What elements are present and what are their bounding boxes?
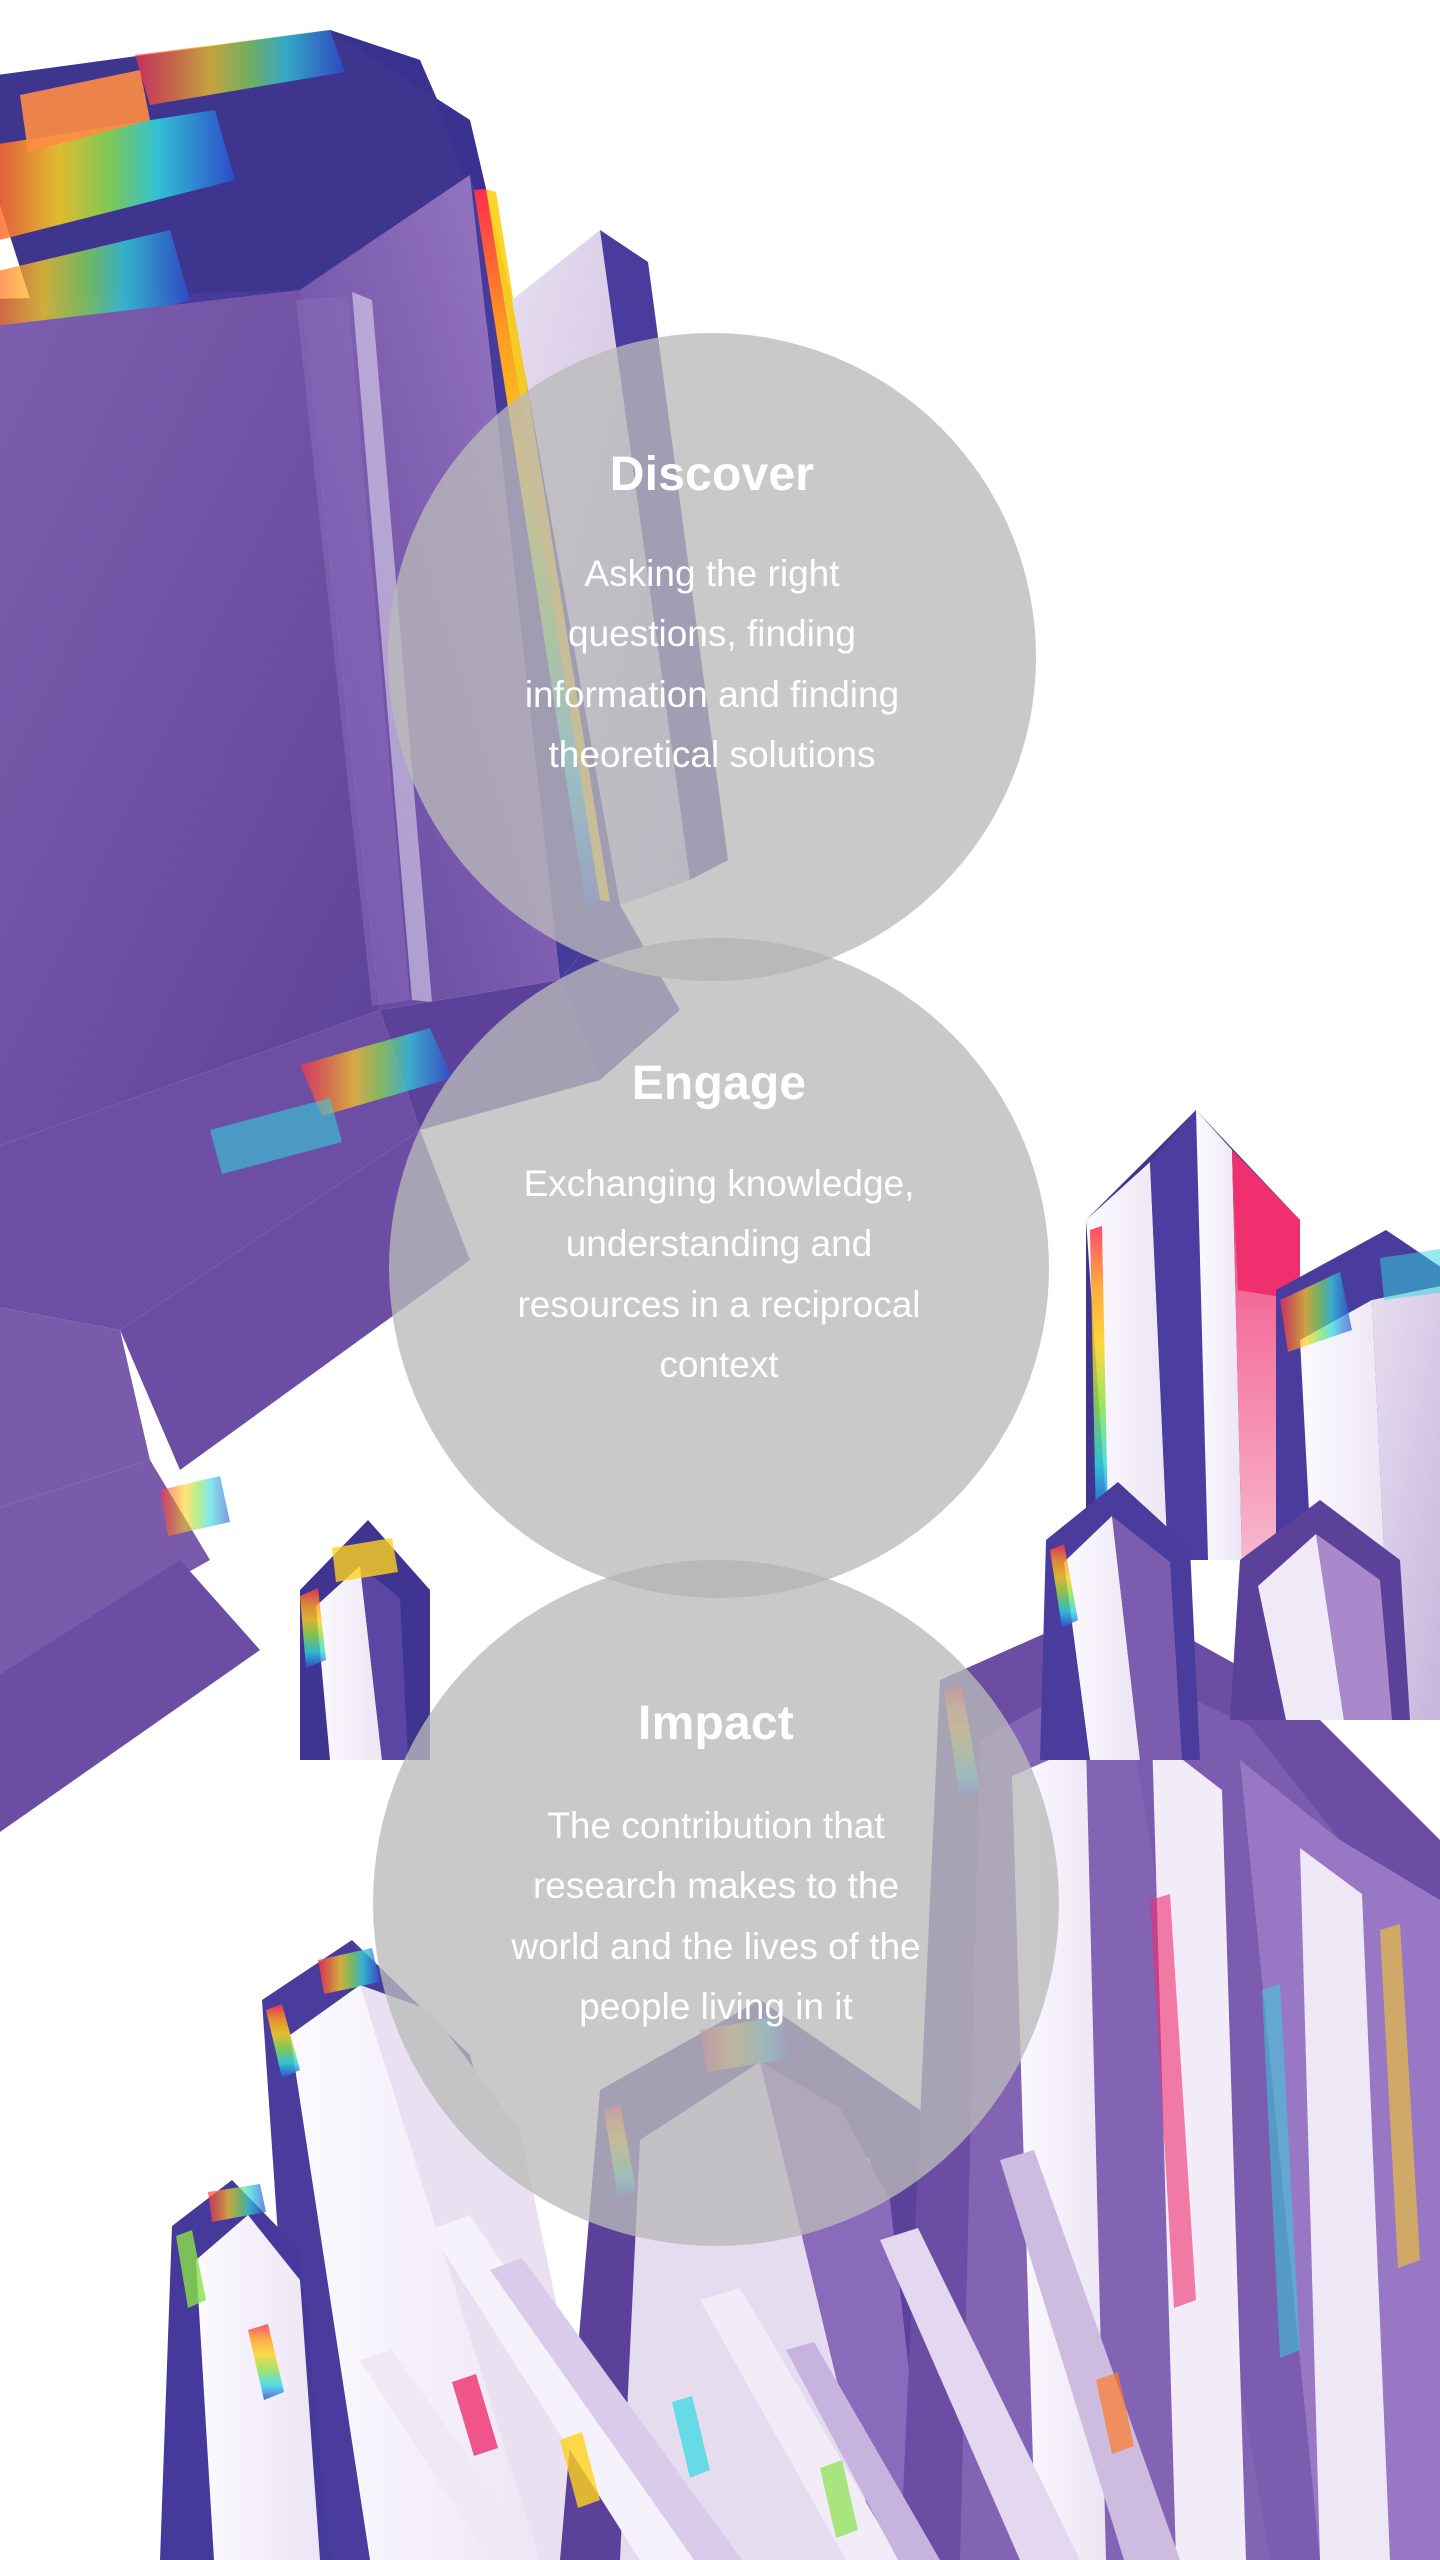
circle-discover-description: Asking the right questions, finding info… (522, 544, 902, 785)
circle-discover-title: Discover (610, 451, 814, 499)
circle-discover[interactable]: Discover Asking the right questions, fin… (388, 333, 1036, 981)
circle-impact[interactable]: Impact The contribution that research ma… (373, 1560, 1059, 2246)
circle-engage[interactable]: Engage Exchanging knowledge, understandi… (389, 938, 1049, 1598)
circle-engage-description: Exchanging knowledge, understanding and … (484, 1154, 954, 1395)
circle-impact-description: The contribution that research makes to … (506, 1796, 926, 2037)
circle-engage-title: Engage (632, 1060, 807, 1108)
page-root: Discover Asking the right questions, fin… (0, 0, 1440, 2560)
circle-impact-title: Impact (638, 1700, 794, 1748)
